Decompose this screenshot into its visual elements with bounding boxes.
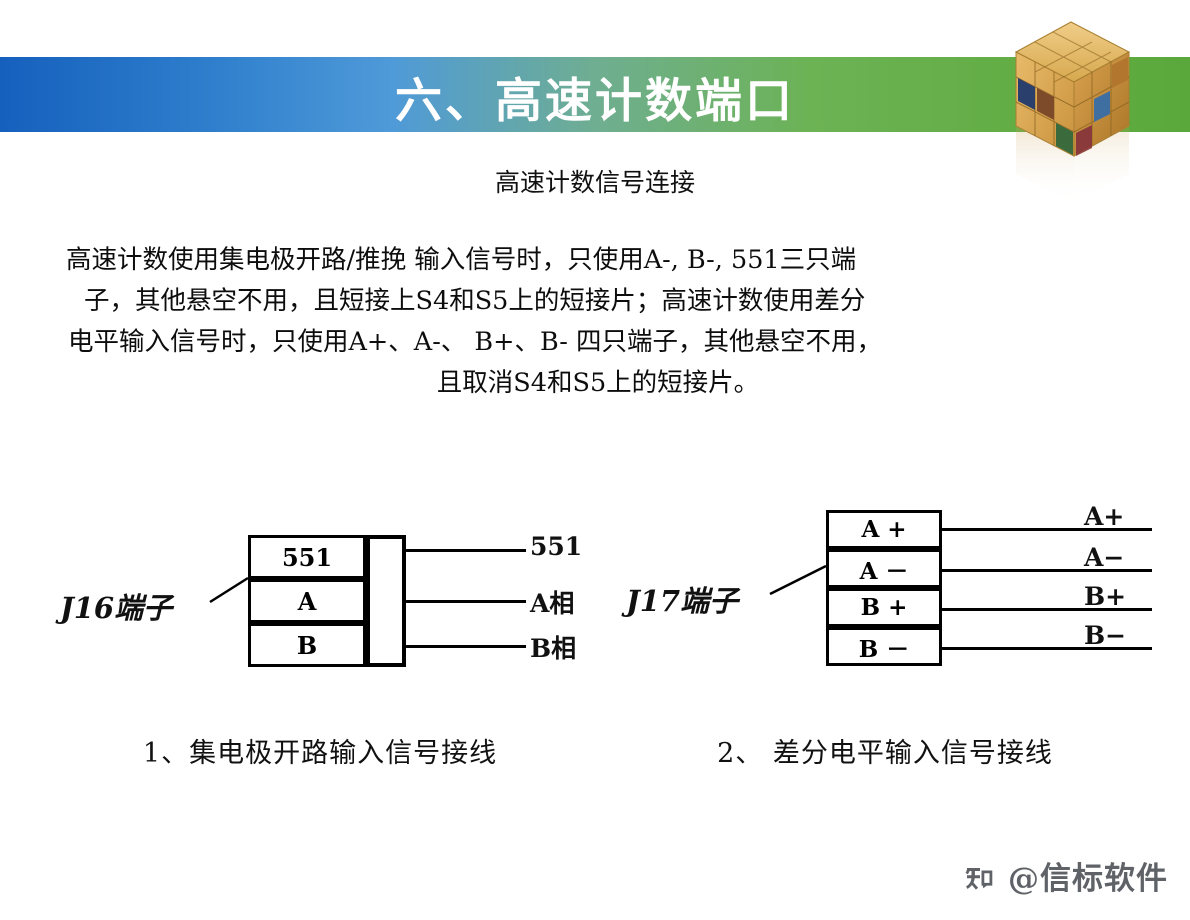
terminal-a-minus: A － [826,549,942,588]
zhihu-logo [962,859,996,893]
wire-b [406,645,526,648]
wire-551 [406,549,526,552]
watermark-text: @信标软件 [1008,853,1168,898]
output-label-b: B相 [530,629,576,665]
output-label-a-minus: A− [1084,543,1124,572]
terminal-a-plus: A + [826,510,942,549]
terminal-b-minus: B － [826,627,942,666]
body-line-3: 电平输入信号时，只使用A+、A-、 B+、B- 四只端子，其他悬空不用， [58,322,1138,363]
figure-j16-caption: 1、集电极开路输入信号接线 [40,731,600,770]
terminal-551: 551 [248,535,366,579]
output-label-a: A相 [530,584,574,620]
output-label-551: 551 [530,532,582,561]
cube-decoration-image [996,14,1146,214]
watermark: @信标软件 [962,853,1168,898]
body-paragraph: 高速计数使用集电极开路/推挽 输入信号时，只使用A-, B-, 551三只端 子… [58,240,1138,404]
terminal-a: A [248,579,366,623]
bus-top-edge [366,535,406,539]
body-line-2: 子，其他悬空不用，且短接上S4和S5上的短接片；高速计数使用差分 [58,281,1138,322]
body-line-4: 且取消S4和S5上的短接片。 [58,363,1138,404]
output-label-b-minus: B− [1084,621,1126,650]
terminal-b: B [248,623,366,667]
terminal-b-plus: B + [826,588,942,627]
output-label-a-plus: A+ [1084,502,1124,531]
wire-a [406,600,526,603]
bus-bottom-edge [366,663,406,667]
body-line-1: 高速计数使用集电极开路/推挽 输入信号时，只使用A-, B-, 551三只端 [58,240,1138,281]
figure-j17: J17端子 A + A － B + B － A+ A− B+ B− 2、 差分电… [600,490,1170,770]
output-label-b-plus: B+ [1084,582,1126,611]
figure-j16: J16端子 551 A B 551 A相 B相 1、集电极开路输入信号接线 [40,490,600,770]
figure-j17-caption: 2、 差分电平输入信号接线 [600,731,1170,770]
terminal-bus-line [366,535,370,667]
